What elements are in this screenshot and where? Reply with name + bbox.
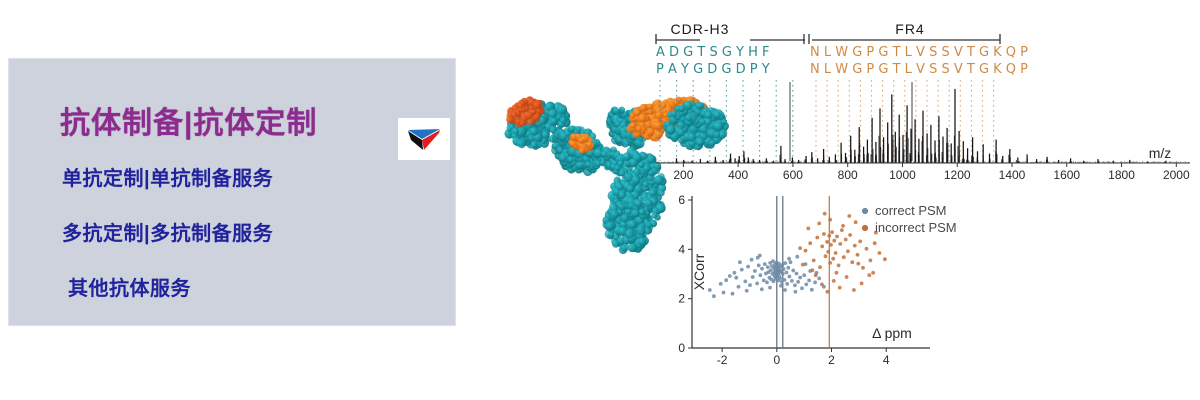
mass-spectrum-chart: 200400600800100012001400160018002000 m/z <box>656 89 1190 182</box>
scatter-ytick-2: 2 <box>678 292 685 306</box>
region-label-fr4: FR4 <box>895 21 924 37</box>
sequence-row1-cdr: A D G T S G Y H F <box>656 45 770 60</box>
legend-dot-correct <box>862 208 868 214</box>
sequence-row2-cdr: P A Y G D G D P Y <box>656 62 770 77</box>
list-item-pab[interactable]: 多抗定制|多抗制备服务 <box>62 217 273 246</box>
scatter-points <box>708 212 887 298</box>
spectrum-peaks <box>656 89 1190 163</box>
psm-scatter-chart: 0246 -2024 XCorr Δ ppm correct PSM incor… <box>678 193 956 367</box>
spectrum-tick-1200: 1200 <box>944 168 971 182</box>
scatter-x-ticks: -2024 <box>717 348 890 367</box>
sequence-row1-fr4: N L W G P G T L V S S V T G K Q P <box>810 45 1028 60</box>
list-item-other[interactable]: 其他抗体服务 <box>68 272 273 301</box>
region-label-cdrh3: CDR-H3 <box>671 21 730 37</box>
spectrum-tick-1400: 1400 <box>999 168 1026 182</box>
spectrum-tick-800: 800 <box>838 168 858 182</box>
legend-label-correct: correct PSM <box>875 203 947 218</box>
service-list: 单抗定制|单抗制备服务 多抗定制|多抗制备服务 其他抗体服务 <box>62 162 273 301</box>
antibody-3d-structure <box>498 92 732 255</box>
spectrum-tick-2000: 2000 <box>1163 168 1190 182</box>
scatter-x-axis-label: Δ ppm <box>872 325 912 341</box>
spectrum-tick-1800: 1800 <box>1108 168 1135 182</box>
scatter-y-axis-label: XCorr <box>691 253 707 290</box>
spectrum-tick-200: 200 <box>673 168 693 182</box>
scatter-xtick-0: 0 <box>773 353 780 367</box>
legend-label-incorrect: incorrect PSM <box>875 220 957 235</box>
sequence-row2-fr4: N L W G P G T L V S S V T G K Q P <box>810 62 1028 77</box>
figure-svg: CDR-H3 FR4 A D G T S G Y H F N L W G P G… <box>460 0 1200 400</box>
company-logo-icon <box>398 118 450 160</box>
slide-root: 抗体制备|抗体定制 单抗定制|单抗制备服务 多抗定制|多抗制备服务 其他抗体服务 <box>0 0 1200 400</box>
scatter-xtick-4: 4 <box>883 353 890 367</box>
legend-dot-incorrect <box>862 225 868 231</box>
sequence-rows: A D G T S G Y H F N L W G P G T L V S S … <box>656 45 1028 77</box>
scatter-xtick--2: -2 <box>717 353 728 367</box>
spectrum-x-axis-label: m/z <box>1149 145 1172 161</box>
scatter-ytick-6: 6 <box>678 193 685 207</box>
promo-panel: 抗体制备|抗体定制 单抗定制|单抗制备服务 多抗定制|多抗制备服务 其他抗体服务 <box>8 58 456 326</box>
page-title: 抗体制备|抗体定制 <box>60 98 317 142</box>
spectrum-tick-600: 600 <box>783 168 803 182</box>
scatter-y-ticks: 0246 <box>678 193 692 355</box>
spectrum-tick-1000: 1000 <box>889 168 916 182</box>
scatter-series-correct <box>708 254 826 299</box>
scatter-series-incorrect <box>798 212 887 294</box>
spectrum-x-ticks: 200400600800100012001400160018002000 <box>673 163 1190 182</box>
spectrum-tick-1600: 1600 <box>1053 168 1080 182</box>
scatter-ytick-4: 4 <box>678 242 685 256</box>
scatter-xtick-2: 2 <box>828 353 835 367</box>
scatter-legend: correct PSM incorrect PSM <box>862 203 957 235</box>
ms-figure: CDR-H3 FR4 A D G T S G Y H F N L W G P G… <box>460 0 1200 400</box>
scatter-ytick-0: 0 <box>678 341 685 355</box>
list-item-mab[interactable]: 单抗定制|单抗制备服务 <box>62 162 273 191</box>
region-brackets: CDR-H3 FR4 <box>656 21 1000 44</box>
spectrum-tick-400: 400 <box>728 168 748 182</box>
